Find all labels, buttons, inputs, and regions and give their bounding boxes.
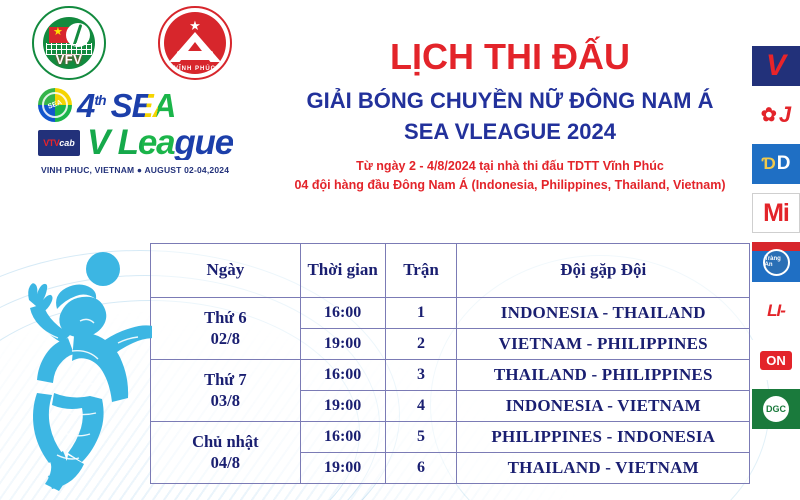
event-note-line1: Từ ngày 2 - 4/8/2024 tại nhà thi đấu TDT… — [270, 157, 750, 175]
time-cell: 19:00 — [300, 453, 385, 484]
match-no-cell: 6 — [385, 453, 457, 484]
day-name: Thứ 7 — [204, 370, 246, 389]
vtvcab-v-glyph: V — [766, 51, 786, 81]
vtvcab-logo[interactable]: V — [752, 46, 800, 86]
teams-cell: THAILAND - PHILIPPINES — [457, 360, 750, 391]
on-logo[interactable]: ON — [752, 340, 800, 380]
day-name: Chủ nhật — [192, 432, 259, 451]
table-row: Chủ nhật 04/8 16:00 5 PHILIPPINES - INDO… — [151, 422, 750, 453]
time-cell: 16:00 — [300, 422, 385, 453]
sea-vleague-logo: SEA 4th SEA VTVcab V League VINH PHUC, V… — [38, 88, 253, 175]
edition-digit: 4 — [77, 87, 94, 124]
day-date: 04/8 — [211, 453, 240, 472]
mi-logo[interactable]: Mi — [752, 193, 800, 233]
table-row: Thứ 7 03/8 16:00 3 THAILAND - PHILIPPINE… — [151, 360, 750, 391]
vtvcab-inline-logo: VTVcab — [38, 130, 80, 156]
player-silhouette-icon — [2, 243, 152, 500]
schedule-table: Ngày Thời gian Trận Đội gặp Đội Thứ 6 02… — [150, 243, 750, 484]
flower-icon: ✿ — [761, 104, 777, 127]
event-note: Từ ngày 2 - 4/8/2024 tại nhà thi đấu TDT… — [270, 157, 750, 193]
federation-logos: VFV ★ VĨNH PHÚC — [32, 6, 232, 80]
column-header-day: Ngày — [151, 244, 301, 298]
sponsor-rail: V ✿ J Ɗ D Mi Tràng An LI- ON DGC — [748, 46, 800, 429]
vinh-phuc-label: VĨNH PHÚC — [164, 66, 226, 72]
star-icon: ★ — [189, 19, 201, 32]
li-ning-label: LI- — [767, 301, 785, 321]
sea-logo-tagline: VINH PHUC, VIETNAM ● AUGUST 02-04,2024 — [41, 165, 253, 175]
event-note-line2: 04 đội hàng đầu Đông Nam Á (Indonesia, P… — [270, 176, 750, 194]
teams-cell: INDONESIA - THAILAND — [457, 298, 750, 329]
tournament-name-line2: SEA VLEAGUE 2024 — [270, 119, 750, 144]
flower-logo-label: J — [779, 102, 791, 128]
table-row: Thứ 6 02/8 16:00 1 INDONESIA - THAILAND — [151, 298, 750, 329]
d-logo-label: D — [777, 153, 791, 175]
vinh-phuc-emblem: ★ VĨNH PHÚC — [158, 6, 232, 80]
match-no-cell: 3 — [385, 360, 457, 391]
volleyball-player-graphic — [2, 243, 152, 500]
teams-cell: INDONESIA - VIETNAM — [457, 391, 750, 422]
teams-cell: PHILIPPINES - INDONESIA — [457, 422, 750, 453]
day-cell: Chủ nhật 04/8 — [151, 422, 301, 484]
sea-volleyball-icon: SEA — [38, 88, 72, 122]
vfv-emblem: VFV — [32, 6, 106, 80]
sea-logo-top-line: SEA 4th SEA — [38, 88, 253, 122]
vfv-emblem-inner: VFV — [43, 17, 95, 69]
column-header-time: Thời gian — [300, 244, 385, 298]
vfv-abbr: VFV — [43, 52, 95, 67]
day-cell: Thứ 6 02/8 — [151, 298, 301, 360]
time-cell: 16:00 — [300, 360, 385, 391]
sea-edition-number: 4th — [77, 89, 106, 122]
headline-block: LỊCH THI ĐẤU GIẢI BÓNG CHUYỀN NỮ ĐÔNG NA… — [270, 38, 750, 194]
on-logo-label: ON — [760, 351, 792, 370]
temple-base-icon — [177, 51, 213, 60]
match-no-cell: 2 — [385, 329, 457, 360]
li-ning-logo[interactable]: LI- — [752, 291, 800, 331]
teams-cell: VIETNAM - PHILIPPINES — [457, 329, 750, 360]
dgc-logo[interactable]: DGC — [752, 389, 800, 429]
table-header-row: Ngày Thời gian Trận Đội gặp Đội — [151, 244, 750, 298]
vleague-word: V League — [87, 125, 233, 160]
poster-canvas: VFV ★ VĨNH PHÚC SEA 4th SEA VTVcab — [0, 0, 800, 500]
column-header-match: Trận — [385, 244, 457, 298]
match-no-cell: 1 — [385, 298, 457, 329]
day-date: 02/8 — [211, 329, 240, 348]
sea-word: SEA — [111, 89, 176, 122]
vtvcab-cab-text: cab — [59, 138, 75, 148]
volleyball-ball-shape — [86, 252, 120, 286]
day-cell: Thứ 7 03/8 — [151, 360, 301, 422]
day-date: 03/8 — [211, 391, 240, 410]
time-cell: 19:00 — [300, 329, 385, 360]
dgc-logo-label: DGC — [763, 396, 789, 422]
teams-cell: THAILAND - VIETNAM — [457, 453, 750, 484]
d-logo-mark: Ɗ — [762, 154, 776, 174]
page-title: LỊCH THI ĐẤU — [270, 38, 750, 76]
time-cell: 16:00 — [300, 298, 385, 329]
time-cell: 19:00 — [300, 391, 385, 422]
match-no-cell: 5 — [385, 422, 457, 453]
trang-an-label: Tràng An — [763, 249, 790, 276]
sea-ball-label: SEA — [47, 99, 63, 111]
match-no-cell: 4 — [385, 391, 457, 422]
vtvcab-vtv-text: VTV — [43, 138, 59, 148]
mi-logo-label: Mi — [763, 199, 789, 228]
day-name: Thứ 6 — [204, 308, 246, 327]
flower-logo[interactable]: ✿ J — [752, 95, 800, 135]
column-header-teams: Đội gặp Đội — [457, 244, 750, 298]
trang-an-logo[interactable]: Tràng An — [752, 242, 800, 282]
d-logo[interactable]: Ɗ D — [752, 144, 800, 184]
vinh-phuc-disc: ★ VĨNH PHÚC — [164, 12, 226, 74]
sea-logo-bottom-line: VTVcab V League — [38, 125, 253, 160]
tournament-name-line1: GIẢI BÓNG CHUYỀN NỮ ĐÔNG NAM Á — [270, 88, 750, 113]
edition-suffix: th — [94, 92, 105, 108]
